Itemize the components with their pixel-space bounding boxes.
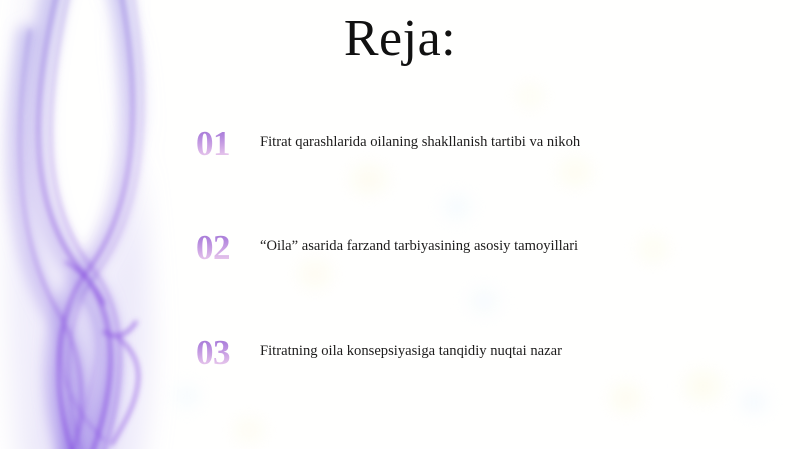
- slide-title: Reja:: [0, 11, 800, 67]
- list-item: 01 Fitrat qarashlarida oilaning shakllan…: [196, 118, 716, 222]
- watermark-blob: [176, 386, 198, 406]
- item-text: Fitrat qarashlarida oilaning shakllanish…: [260, 133, 580, 153]
- item-text: “Oila” asarida farzand tarbiyasining aso…: [260, 237, 578, 257]
- item-number: 01: [196, 126, 248, 161]
- agenda-list: 01 Fitrat qarashlarida oilaning shakllan…: [196, 118, 716, 432]
- item-number: 03: [196, 335, 248, 370]
- item-number: 02: [196, 230, 248, 265]
- list-item: 02 “Oila” asarida farzand tarbiyasining …: [196, 222, 716, 327]
- presentation-slide: Reja: 01 Fitrat qarashlarida oilaning sh…: [0, 0, 800, 449]
- item-text: Fitratning oila konsepsiyasiga tanqidiy …: [260, 342, 562, 362]
- watermark-blob: [742, 392, 766, 412]
- purple-smoke-ribbon-icon: [0, 0, 200, 449]
- list-item: 03 Fitratning oila konsepsiyasiga tanqid…: [196, 327, 716, 432]
- watermark-blob: [518, 86, 542, 106]
